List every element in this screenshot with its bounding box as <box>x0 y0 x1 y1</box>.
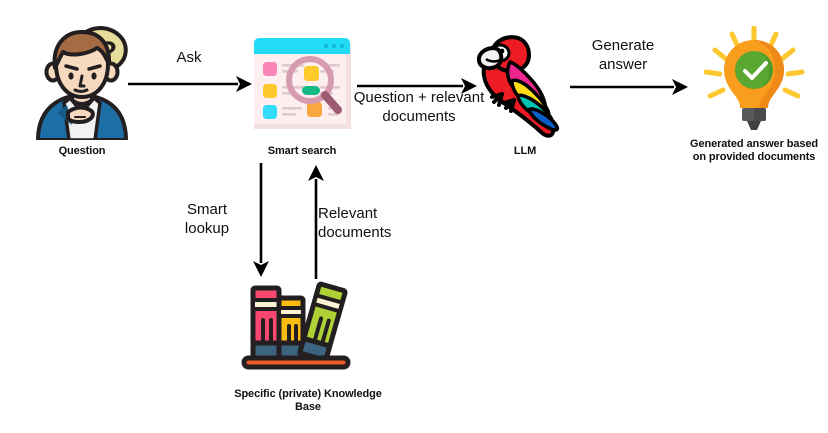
diagram-canvas: ? <box>0 0 828 433</box>
search-window-icon <box>250 30 354 134</box>
edge-arrow-ask <box>128 72 254 96</box>
node-generated-answer[interactable] <box>702 26 806 134</box>
node-smart-search[interactable] <box>250 30 354 134</box>
caption-generated-answer: Generated answer based on provided docum… <box>664 138 828 164</box>
lightbulb-check-icon <box>702 26 806 134</box>
caption-question: Question <box>12 145 152 158</box>
edge-label-smart-lookup: Smart lookup <box>155 200 259 238</box>
thinking-person-icon: ? <box>22 18 142 140</box>
node-question[interactable]: ? <box>22 18 142 140</box>
caption-llm: LLM <box>465 145 585 158</box>
caption-knowledge-base: Specific (private) Knowledge Base <box>208 388 408 414</box>
books-icon <box>240 280 352 372</box>
edge-arrow-generate-answer <box>570 76 692 98</box>
node-knowledge-base[interactable] <box>240 280 352 372</box>
edge-label-ask: Ask <box>128 48 250 67</box>
edge-label-relevant-documents: Relevant documents <box>318 204 458 242</box>
caption-smart-search: Smart search <box>232 145 372 158</box>
edge-label-generate-answer: Generate answer <box>563 36 683 74</box>
node-llm[interactable] <box>474 28 576 138</box>
parrot-icon <box>474 28 576 138</box>
edge-label-question-plus-docs: Question + relevant documents <box>349 88 489 126</box>
